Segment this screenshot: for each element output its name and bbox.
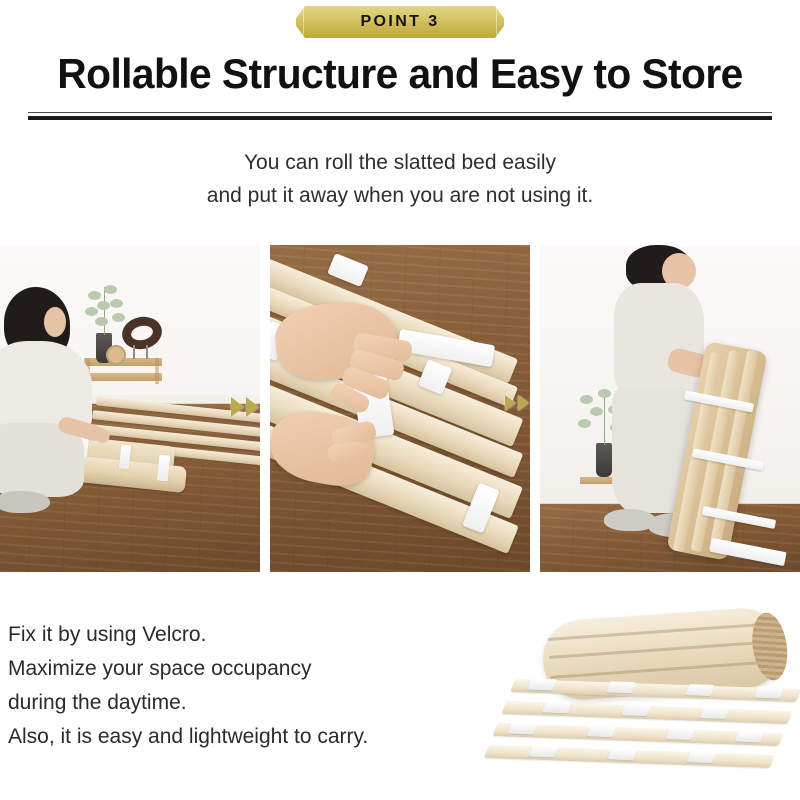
plant-leaf <box>598 389 611 398</box>
shelf-leg-right <box>155 358 159 384</box>
step-arrow-2 <box>505 395 530 411</box>
product-clip <box>686 751 716 763</box>
plant-leaf <box>104 285 117 294</box>
step-2-photo <box>270 245 530 572</box>
product-clip <box>754 687 784 699</box>
product-clip <box>542 701 572 713</box>
step-1-photo <box>0 245 260 572</box>
product-clip <box>734 730 764 742</box>
subtitle: You can roll the slatted bed easily and … <box>0 146 800 212</box>
description-line-1: Fix it by using Velcro. <box>8 618 508 652</box>
feature-description: Fix it by using Velcro. Maximize your sp… <box>8 618 508 754</box>
plant-leaf <box>580 395 593 404</box>
page-title: Rollable Structure and Easy to Store <box>12 50 788 98</box>
point-badge-container: POINT 3 <box>0 6 800 38</box>
plant-leaf <box>97 301 110 310</box>
plant-leaf <box>112 313 125 322</box>
plant-leaf <box>88 291 101 300</box>
product-clip <box>700 707 730 719</box>
step-3-photo <box>540 245 800 572</box>
sculpture-stand <box>133 345 135 359</box>
point-badge-label: POINT 3 <box>360 14 439 30</box>
title-divider <box>28 112 772 120</box>
triangle-right-icon <box>246 397 259 417</box>
plant-leaf <box>95 317 108 326</box>
product-clip <box>586 725 616 737</box>
roll-end-grain <box>748 611 791 683</box>
product-clip <box>528 745 558 757</box>
product-shot <box>495 606 795 786</box>
plant-vase <box>596 443 612 477</box>
triangle-right-icon <box>518 395 529 411</box>
person-slipper <box>0 491 50 513</box>
product-clip <box>621 704 651 716</box>
plant-leaf <box>85 307 98 316</box>
sculpture-stand <box>146 345 148 359</box>
step-photo-row <box>0 245 800 572</box>
product-clip <box>508 722 538 734</box>
description-line-2: Maximize your space occupancy <box>8 652 508 686</box>
product-clip <box>527 679 557 691</box>
plant-leaf <box>110 299 123 308</box>
product-feature-page: POINT 3 Rollable Structure and Easy to S… <box>0 0 800 800</box>
product-clip <box>685 684 715 696</box>
triangle-right-icon <box>231 397 244 417</box>
roll-seam <box>548 622 776 641</box>
subtitle-line-2: and put it away when you are not using i… <box>0 179 800 212</box>
description-line-4: Also, it is easy and lightweight to carr… <box>8 720 508 754</box>
triangle-right-icon <box>505 395 516 411</box>
product-clip <box>665 728 695 740</box>
point-badge: POINT 3 <box>296 6 504 38</box>
decor-clock <box>106 345 126 365</box>
roll-seam <box>549 640 777 659</box>
plant-stem <box>104 287 105 335</box>
plant-leaf <box>590 407 603 416</box>
divider-thick-line <box>28 116 772 120</box>
subtitle-line-1: You can roll the slatted bed easily <box>0 146 800 179</box>
step-arrow-1 <box>231 397 260 417</box>
plant-leaf <box>578 419 591 428</box>
description-line-3: during the daytime. <box>8 686 508 720</box>
shelf-bottom <box>84 373 162 381</box>
product-flat-part <box>476 673 800 787</box>
person-face <box>44 307 66 337</box>
product-clip <box>606 681 636 693</box>
plant-stem <box>604 397 605 445</box>
product-clip <box>607 748 637 760</box>
